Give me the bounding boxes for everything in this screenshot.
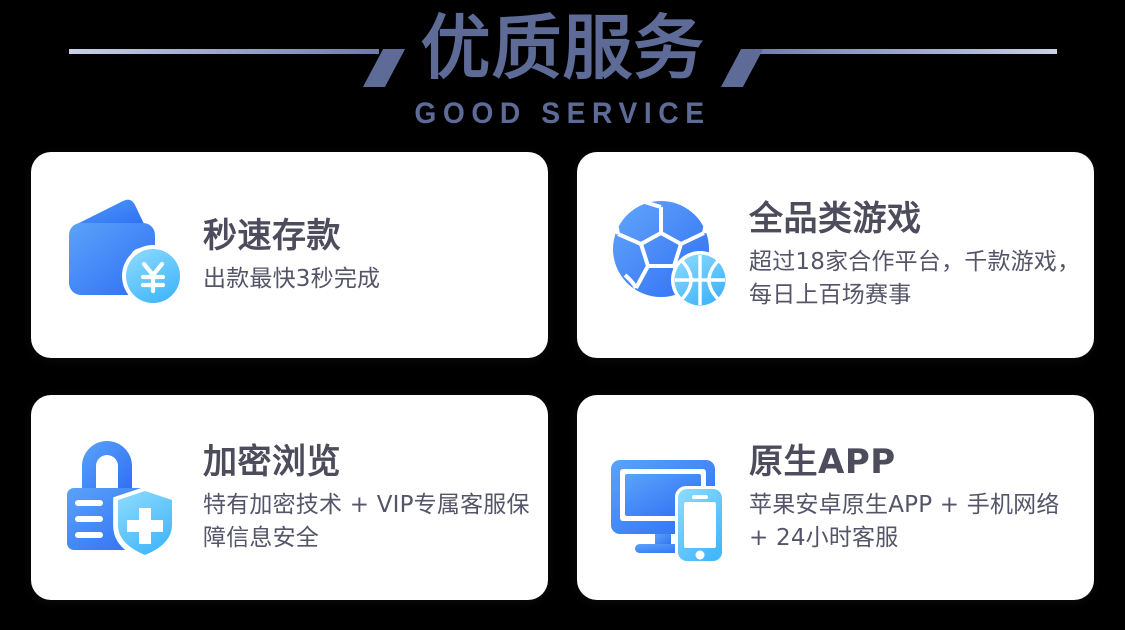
card-title: 秒速存款 [203, 215, 536, 257]
card-description: 出款最快3秒完成 [203, 263, 536, 296]
feature-card-games[interactable]: 全品类游戏 超过18家合作平台，千款游戏，每日上百场赛事 [577, 152, 1094, 358]
title-row: 优质服务 [0, 8, 1125, 88]
feature-card-native-app[interactable]: 原生APP 苹果安卓原生APP + 手机网络 + 24小时客服 [577, 395, 1094, 600]
feature-card-grid: 秒速存款 出款最快3秒完成 [31, 152, 1094, 600]
page-subtitle: GOOD SERVICE [34, 96, 1092, 132]
monitor-phone-icon [603, 430, 743, 566]
card-title: 加密浏览 [203, 441, 536, 483]
card-description: 特有加密技术 + VIP专属客服保障信息安全 [203, 489, 536, 555]
card-text-block: 秒速存款 出款最快3秒完成 [197, 215, 548, 296]
page-title: 优质服务 [407, 8, 719, 88]
card-title: 原生APP [749, 441, 1082, 483]
left-rule-line [69, 49, 379, 54]
card-description: 苹果安卓原生APP + 手机网络 + 24小时客服 [749, 489, 1082, 555]
feature-card-deposit[interactable]: 秒速存款 出款最快3秒完成 [31, 152, 548, 358]
banner-header: 优质服务 GOOD SERVICE [0, 0, 1125, 145]
card-description: 超过18家合作平台，千款游戏，每日上百场赛事 [749, 246, 1082, 312]
card-text-block: 原生APP 苹果安卓原生APP + 手机网络 + 24小时客服 [743, 441, 1094, 555]
left-decoration [57, 13, 407, 83]
card-title: 全品类游戏 [749, 198, 1082, 240]
card-text-block: 加密浏览 特有加密技术 + VIP专属客服保障信息安全 [197, 441, 548, 555]
right-decoration [719, 13, 1069, 83]
promo-banner: 优质服务 GOOD SERVICE [0, 0, 1125, 630]
wallet-yen-icon [57, 187, 197, 323]
lock-shield-icon [57, 430, 197, 566]
feature-card-encryption[interactable]: 加密浏览 特有加密技术 + VIP专属客服保障信息安全 [31, 395, 548, 600]
card-text-block: 全品类游戏 超过18家合作平台，千款游戏，每日上百场赛事 [743, 198, 1094, 312]
right-slash-icon [720, 49, 762, 87]
left-slash-icon [362, 49, 404, 87]
right-rule-line [747, 49, 1057, 54]
soccer-basketball-icon [603, 187, 743, 323]
